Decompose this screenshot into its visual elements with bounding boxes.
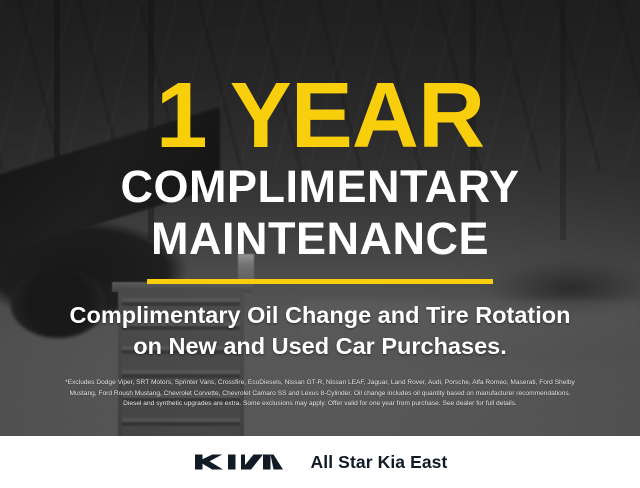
tagline-line-1: Complimentary Oil Change and Tire Rotati… xyxy=(70,300,571,331)
disclaimer-line-2: Mustang, Ford Roush Mustang, Chevrolet C… xyxy=(14,389,626,400)
disclaimer-line-1: *Excludes Dodge Viper, SRT Motors, Sprin… xyxy=(14,378,626,389)
banner-content: 1 YEAR COMPLIMENTARY MAINTENANCE Complim… xyxy=(0,0,640,436)
promotional-banner: 1 YEAR COMPLIMENTARY MAINTENANCE Complim… xyxy=(0,0,640,488)
yellow-divider xyxy=(147,279,493,284)
tagline-line-2: on New and Used Car Purchases. xyxy=(133,331,507,362)
headline-complimentary: COMPLIMENTARY xyxy=(121,164,520,211)
disclaimer-text: *Excludes Dodge Viper, SRT Motors, Sprin… xyxy=(14,378,626,410)
footer-bar: All Star Kia East xyxy=(0,436,640,488)
headline-one-year: 1 YEAR xyxy=(156,74,484,158)
dealer-name: All Star Kia East xyxy=(311,452,448,473)
headline-maintenance: MAINTENANCE xyxy=(151,216,489,263)
disclaimer-line-3: Diesel and synthetic upgrades are extra.… xyxy=(14,399,626,410)
kia-logo xyxy=(193,450,285,474)
